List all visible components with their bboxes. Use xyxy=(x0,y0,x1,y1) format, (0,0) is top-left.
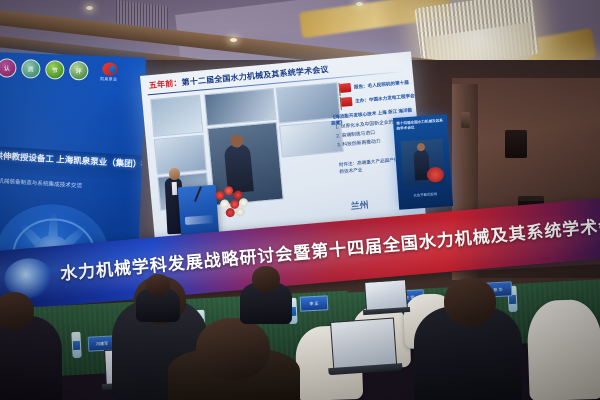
slide-bullet-text: 报告：毛人民院机的第十届 xyxy=(354,79,409,90)
audience-person-head xyxy=(146,274,170,296)
water-bottle xyxy=(71,332,81,358)
wall-speaker xyxy=(505,130,527,158)
downlight-icon xyxy=(356,2,363,6)
presenter-head xyxy=(169,168,180,180)
downlight-icon xyxy=(86,6,93,10)
side-panel-image xyxy=(401,139,446,188)
name-card: 李 正 xyxy=(300,295,329,311)
corporate-logo-icon: 凯泉泵业 xyxy=(99,62,122,85)
downlight-icon xyxy=(230,38,237,42)
slide-bullet-item: 主办：中国水力发电工程学会 xyxy=(341,92,412,107)
red-flag-icon xyxy=(340,83,352,93)
presenter-shirt xyxy=(172,182,178,195)
side-display-panel: 第十四届全国水力机械及其系统学术会议 大会开幕式现场 xyxy=(393,114,453,210)
audience-person-head xyxy=(252,266,280,292)
certification-badge-icon: 环 xyxy=(69,61,89,81)
certification-badge-icon: 认 xyxy=(0,58,17,78)
chair xyxy=(526,299,600,400)
badge-row: 认 质 节 环 xyxy=(0,58,89,80)
slide-title-prefix: 五年前： xyxy=(149,78,182,90)
certification-badge-icon: 质 xyxy=(21,59,41,79)
slide-city-label: 兰州 xyxy=(350,198,369,213)
slide-photo-thumbnail xyxy=(204,88,277,126)
certification-badge-icon: 节 xyxy=(45,60,65,80)
red-flag-icon xyxy=(341,97,353,107)
wall-sconce-icon xyxy=(461,112,470,128)
slide-bullet-item: 报告：毛人民院机的第十届 xyxy=(340,78,411,93)
name-card-text: 张 华 xyxy=(493,286,502,292)
audience-person-head xyxy=(196,318,270,380)
slide-photo-thumbnail xyxy=(150,95,203,137)
side-panel-title: 第十四届全国水力机械及其系统学术会议 xyxy=(396,118,445,132)
slide-bullet-text: 主办：中国水力发电工程学会 xyxy=(355,93,415,104)
logo-text: 凯泉泵业 xyxy=(100,76,117,83)
logo-mark xyxy=(102,62,117,76)
side-panel-caption: 大会开幕式现场 xyxy=(401,190,449,198)
audience-person-head xyxy=(444,278,496,326)
laptop-screen xyxy=(330,318,397,370)
slide-photo-thumbnail xyxy=(154,134,207,174)
side-panel-flowers xyxy=(426,167,444,183)
slide-bullet-list: 报告：毛人民院机的第十届 主办：中国水力发电工程学会 xyxy=(340,78,412,112)
name-card-text: 冯建军 xyxy=(96,340,108,347)
flower-arrangement xyxy=(213,185,251,219)
conference-hall-photo: 认 质 节 环 凯泉泵业 芦洪伸教授设备工 上海凯泉泵业（集团）有限公司 水力机… xyxy=(0,0,600,400)
name-card-text: 李 正 xyxy=(309,300,318,306)
